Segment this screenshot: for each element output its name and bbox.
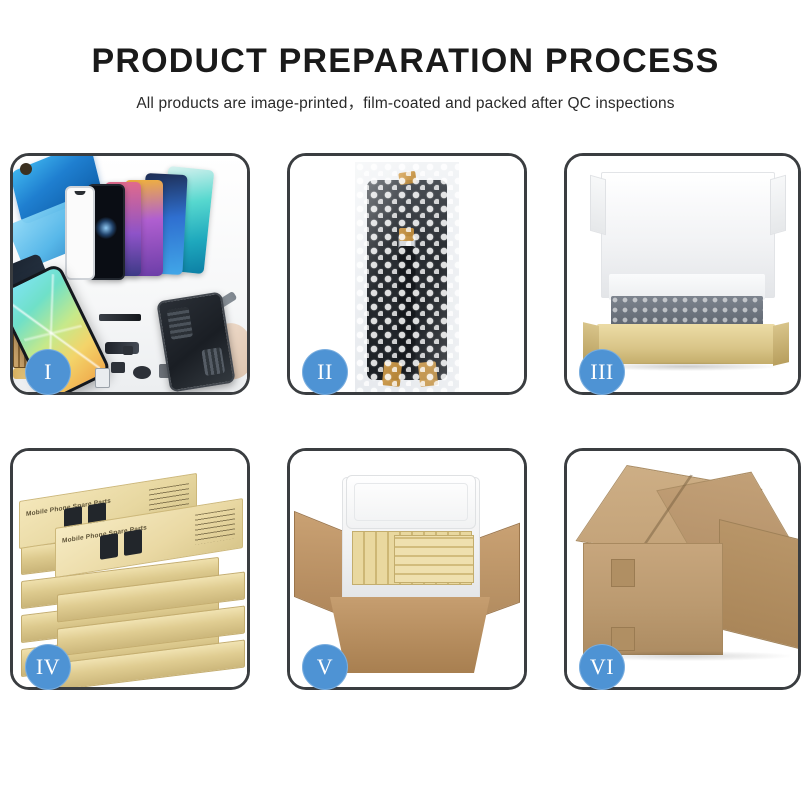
foam-lid-icon xyxy=(346,475,476,529)
process-step-panel-4[interactable]: Mobile Phone Spare Parts Mobile Phone Sp… xyxy=(10,448,250,690)
box-phone-image-3 xyxy=(100,533,118,560)
box-phone-image-4 xyxy=(124,529,142,556)
phone-white-front-icon xyxy=(65,186,95,280)
process-step-grid: I II xyxy=(10,153,801,690)
carton-body-icon xyxy=(330,597,490,673)
component-small-1-icon xyxy=(111,362,125,373)
bubble-wrap-package xyxy=(355,162,459,392)
process-step-panel-6[interactable]: VI xyxy=(564,448,801,690)
component-speaker-icon xyxy=(133,366,151,379)
process-step-panel-1[interactable]: I xyxy=(10,153,250,395)
step-badge-6: VI xyxy=(579,644,625,690)
box-gold-base-icon xyxy=(597,324,775,364)
process-step-panel-3[interactable]: III xyxy=(564,153,801,395)
step-badge-2: II xyxy=(302,349,348,395)
box-spec-lines-front xyxy=(195,508,235,544)
carton-side-panel-icon xyxy=(719,519,798,649)
carton-tape-upper-icon xyxy=(611,559,635,587)
component-flex-cable-left-icon xyxy=(105,342,139,354)
process-step-panel-2[interactable]: II xyxy=(287,153,527,395)
step-badge-3: III xyxy=(579,349,625,395)
phone-lineup-group xyxy=(91,166,241,284)
step-badge-4: IV xyxy=(25,644,71,690)
page-header: PRODUCT PREPARATION PROCESS All products… xyxy=(0,0,811,113)
component-small-6-icon xyxy=(123,346,133,355)
page-title: PRODUCT PREPARATION PROCESS xyxy=(0,44,811,80)
plastic-sheen-overlay xyxy=(355,162,459,392)
step-badge-5: V xyxy=(302,644,348,690)
component-strip-icon xyxy=(99,314,141,321)
process-step-panel-5[interactable]: V xyxy=(287,448,527,690)
component-sim-tray-icon xyxy=(95,368,110,388)
phone-back-housing-icon xyxy=(156,291,236,392)
page-subtitle: All products are image-printed，film-coat… xyxy=(0,91,811,113)
gold-boxes-inside-2-icon xyxy=(394,535,474,583)
carton-front-panel-icon xyxy=(583,543,723,655)
step-badge-1: I xyxy=(25,349,71,395)
